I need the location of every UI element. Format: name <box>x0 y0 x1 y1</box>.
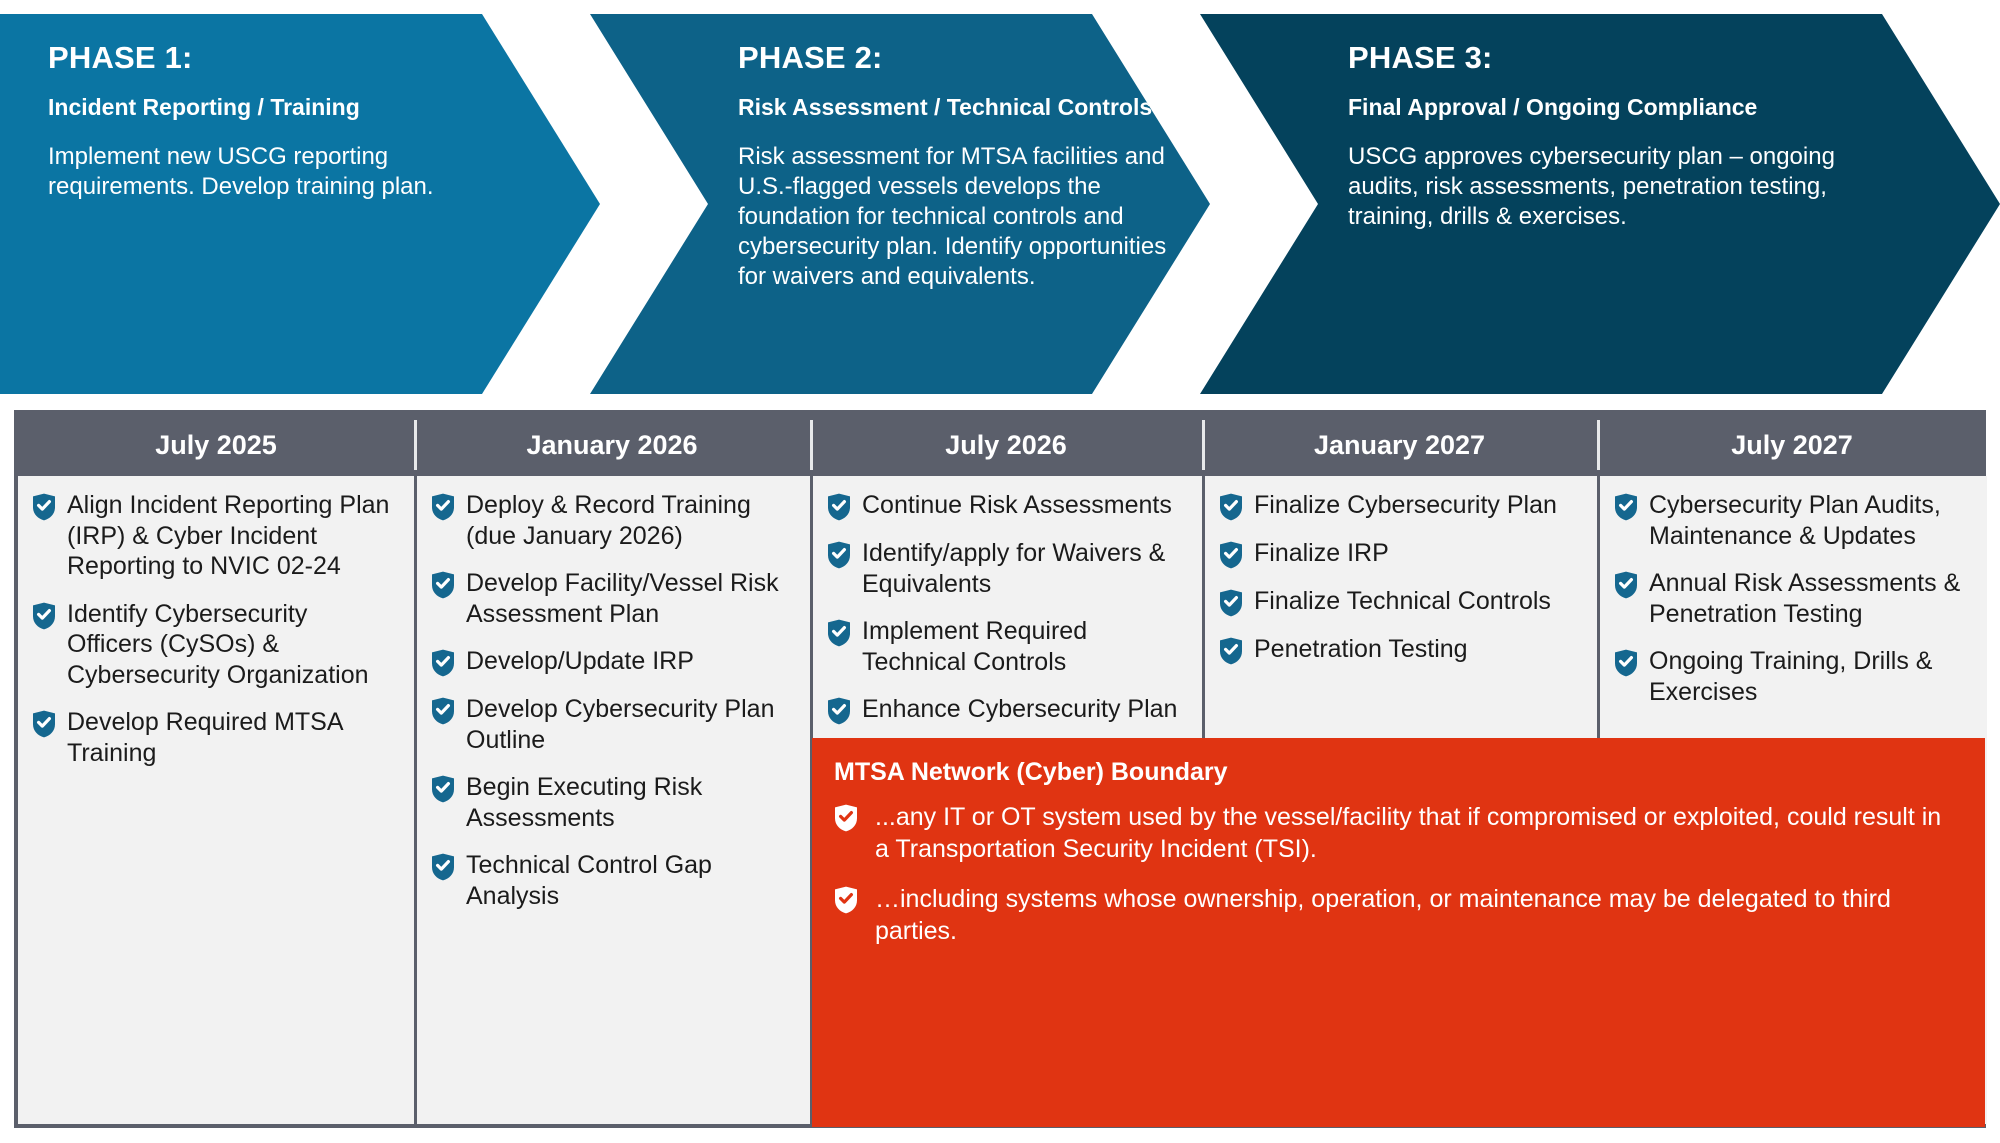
task-item: Deploy & Record Training (due January 20… <box>431 490 794 551</box>
shield-check-icon <box>32 493 56 521</box>
task-list: Finalize Cybersecurity PlanFinalize IRPF… <box>1219 490 1581 665</box>
shield-check-icon <box>827 697 851 725</box>
timeline-table-header: July 2025January 2026July 2026January 20… <box>18 414 1982 476</box>
task-label: Begin Executing Risk Assessments <box>466 772 794 833</box>
shield-check-icon <box>1614 571 1638 599</box>
task-label: Develop Cybersecurity Plan Outline <box>466 694 794 755</box>
shield-check-icon <box>431 649 455 677</box>
task-label: Deploy & Record Training (due January 20… <box>466 490 794 551</box>
task-item: Continue Risk Assessments <box>827 490 1186 521</box>
column-header-label: July 2026 <box>945 430 1067 461</box>
timeline-column-2: Deploy & Record Training (due January 20… <box>414 476 810 1124</box>
shield-check-icon <box>827 619 851 647</box>
shield-check-icon <box>834 804 858 832</box>
task-label: Enhance Cybersecurity Plan <box>862 694 1186 725</box>
task-label: Align Incident Reporting Plan (IRP) & Cy… <box>67 490 398 582</box>
task-item: Develop Cybersecurity Plan Outline <box>431 694 794 755</box>
task-label: Annual Risk Assessments & Penetration Te… <box>1649 568 1971 629</box>
task-item: Implement Required Technical Controls <box>827 616 1186 677</box>
callout-bullet-label: …including systems whose ownership, oper… <box>875 883 1959 947</box>
task-label: Implement Required Technical Controls <box>862 616 1186 677</box>
phase-3-description: USCG approves cybersecurity plan – ongoi… <box>1348 142 1878 232</box>
column-header-label: January 2026 <box>526 430 697 461</box>
task-list: Align Incident Reporting Plan (IRP) & Cy… <box>32 490 398 768</box>
column-header-label: July 2025 <box>155 430 277 461</box>
task-label: Develop Required MTSA Training <box>67 707 398 768</box>
infographic-root: PHASE 1: Incident Reporting / Training I… <box>0 0 2000 1143</box>
task-label: Finalize Cybersecurity Plan <box>1254 490 1581 521</box>
phase-3-subtitle: Final Approval / Ongoing Compliance <box>1348 95 1878 120</box>
shield-check-icon <box>32 710 56 738</box>
column-header-label: January 2027 <box>1314 430 1485 461</box>
shield-check-icon <box>827 541 851 569</box>
task-item: Develop Required MTSA Training <box>32 707 398 768</box>
task-item: Begin Executing Risk Assessments <box>431 772 794 833</box>
task-item: Enhance Cybersecurity Plan <box>827 694 1186 725</box>
task-item: Finalize Cybersecurity Plan <box>1219 490 1581 521</box>
task-item: Finalize Technical Controls <box>1219 586 1581 617</box>
task-label: Penetration Testing <box>1254 634 1581 665</box>
shield-check-icon <box>431 493 455 521</box>
task-item: Penetration Testing <box>1219 634 1581 665</box>
phase-1-chevron: PHASE 1: Incident Reporting / Training I… <box>0 14 600 394</box>
task-item: Cybersecurity Plan Audits, Maintenance &… <box>1614 490 1971 551</box>
task-item: Annual Risk Assessments & Penetration Te… <box>1614 568 1971 629</box>
task-label: Finalize Technical Controls <box>1254 586 1581 617</box>
column-header-1: July 2025 <box>18 414 414 476</box>
column-header-2: January 2026 <box>414 414 810 476</box>
shield-check-icon <box>1219 541 1243 569</box>
callout-bullet-list: ...any IT or OT system used by the vesse… <box>834 801 1959 947</box>
task-item: Finalize IRP <box>1219 538 1581 569</box>
shield-check-icon <box>1219 493 1243 521</box>
callout-bullet: ...any IT or OT system used by the vesse… <box>834 801 1959 865</box>
task-item: Identify/apply for Waivers & Equivalents <box>827 538 1186 599</box>
mtsa-network-boundary-callout: MTSA Network (Cyber) Boundary ...any IT … <box>812 738 1985 1127</box>
shield-check-icon <box>431 571 455 599</box>
column-header-label: July 2027 <box>1731 430 1853 461</box>
task-label: Develop Facility/Vessel Risk Assessment … <box>466 568 794 629</box>
task-label: Develop/Update IRP <box>466 646 794 677</box>
shield-check-icon <box>431 853 455 881</box>
timeline-table-body: Align Incident Reporting Plan (IRP) & Cy… <box>18 476 1982 1124</box>
task-item: Identify Cybersecurity Officers (CySOs) … <box>32 599 398 691</box>
phase-2-subtitle: Risk Assessment / Technical Controls <box>738 95 1178 120</box>
phase-2-chevron: PHASE 2: Risk Assessment / Technical Con… <box>590 14 1210 394</box>
column-header-5: July 2027 <box>1597 414 1987 476</box>
task-item: Ongoing Training, Drills & Exercises <box>1614 646 1971 707</box>
shield-check-icon <box>827 493 851 521</box>
task-label: Identify Cybersecurity Officers (CySOs) … <box>67 599 398 691</box>
task-list: Cybersecurity Plan Audits, Maintenance &… <box>1614 490 1971 707</box>
shield-check-icon <box>1614 493 1638 521</box>
phase-2-description: Risk assessment for MTSA facilities and … <box>738 142 1178 292</box>
phase-1-description: Implement new USCG reporting requirement… <box>48 142 468 202</box>
task-label: Technical Control Gap Analysis <box>466 850 794 911</box>
phase-1-subtitle: Incident Reporting / Training <box>48 95 468 120</box>
callout-bullet-label: ...any IT or OT system used by the vesse… <box>875 801 1959 865</box>
shield-check-icon <box>32 602 56 630</box>
task-label: Cybersecurity Plan Audits, Maintenance &… <box>1649 490 1971 551</box>
phase-3-number: PHASE 3: <box>1348 42 1878 75</box>
task-label: Identify/apply for Waivers & Equivalents <box>862 538 1186 599</box>
shield-check-icon <box>431 697 455 725</box>
task-item: Develop Facility/Vessel Risk Assessment … <box>431 568 794 629</box>
task-label: Ongoing Training, Drills & Exercises <box>1649 646 1971 707</box>
callout-title: MTSA Network (Cyber) Boundary <box>834 758 1959 787</box>
phase-chevron-band: PHASE 1: Incident Reporting / Training I… <box>0 14 2000 394</box>
shield-check-icon <box>834 886 858 914</box>
shield-check-icon <box>1219 637 1243 665</box>
task-label: Finalize IRP <box>1254 538 1581 569</box>
phase-1-number: PHASE 1: <box>48 42 468 75</box>
task-list: Continue Risk AssessmentsIdentify/apply … <box>827 490 1186 725</box>
shield-check-icon <box>431 775 455 803</box>
phase-2-number: PHASE 2: <box>738 42 1178 75</box>
task-item: Develop/Update IRP <box>431 646 794 677</box>
timeline-table: July 2025January 2026July 2026January 20… <box>14 410 1986 1128</box>
shield-check-icon <box>1219 589 1243 617</box>
task-list: Deploy & Record Training (due January 20… <box>431 490 794 911</box>
task-item: Align Incident Reporting Plan (IRP) & Cy… <box>32 490 398 582</box>
column-header-4: January 2027 <box>1202 414 1597 476</box>
callout-bullet: …including systems whose ownership, oper… <box>834 883 1959 947</box>
phase-3-chevron: PHASE 3: Final Approval / Ongoing Compli… <box>1200 14 2000 394</box>
shield-check-icon <box>1614 649 1638 677</box>
task-label: Continue Risk Assessments <box>862 490 1186 521</box>
task-item: Technical Control Gap Analysis <box>431 850 794 911</box>
timeline-column-1: Align Incident Reporting Plan (IRP) & Cy… <box>18 476 414 1124</box>
column-header-3: July 2026 <box>810 414 1202 476</box>
